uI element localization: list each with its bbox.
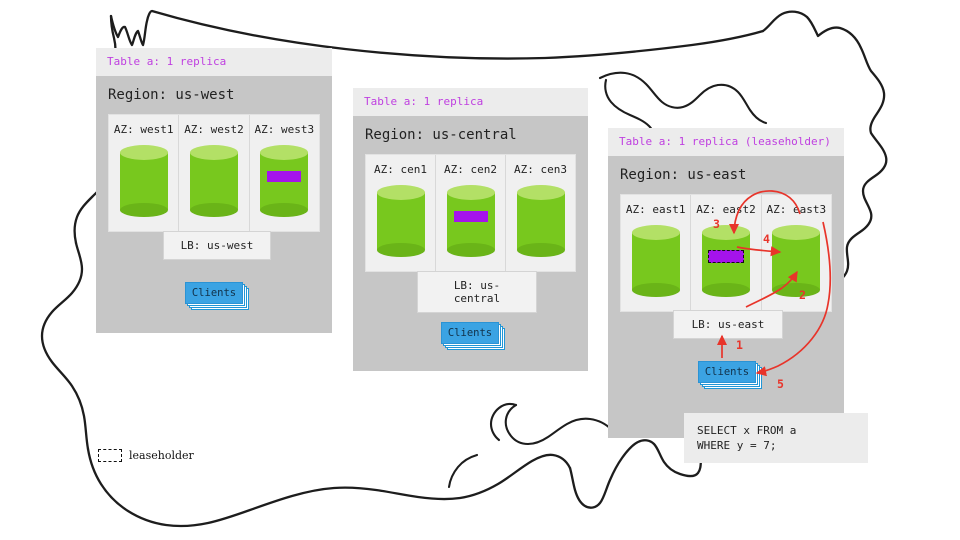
az-cell-west3[interactable]: AZ: west3 (250, 115, 319, 231)
range-chip-cen2 (454, 211, 488, 222)
load-balancer-us-central[interactable]: LB: us-central (417, 271, 537, 313)
sql-query-box: SELECT x FROM a WHERE y = 7; (684, 413, 868, 463)
region-panel-us-east: Table a: 1 replica (leaseholder) Region:… (608, 128, 844, 438)
az-label-cen2: AZ: cen2 (436, 163, 505, 176)
replica-cylinder-west1[interactable] (120, 145, 168, 217)
leaseholder-swatch-icon (98, 449, 122, 462)
leaseholder-chip-east2 (708, 250, 744, 263)
az-label-east3: AZ: east3 (762, 203, 831, 216)
arrow-number-5: 5 (777, 377, 784, 391)
az-label-cen1: AZ: cen1 (366, 163, 435, 176)
load-balancer-us-east[interactable]: LB: us-east (673, 310, 783, 339)
clients-button-us-west[interactable]: Clients (185, 282, 243, 304)
replica-cylinder-cen2[interactable] (447, 185, 495, 257)
load-balancer-us-west[interactable]: LB: us-west (163, 231, 271, 260)
clients-label-us-central[interactable]: Clients (441, 322, 499, 344)
az-row-us-west: AZ: west1 AZ: west2 AZ: west3 (108, 114, 320, 232)
az-cell-west1[interactable]: AZ: west1 (109, 115, 179, 231)
range-chip-west3 (267, 171, 301, 182)
arrow-number-2: 2 (799, 288, 806, 302)
az-cell-east1[interactable]: AZ: east1 (621, 195, 691, 311)
legend-leaseholder: leaseholder (98, 449, 194, 462)
clients-button-us-central[interactable]: Clients (441, 322, 499, 344)
replica-label-us-east: Table a: 1 replica (leaseholder) (608, 128, 844, 156)
region-title-us-west: Region: us-west (96, 76, 332, 114)
az-label-west1: AZ: west1 (109, 123, 178, 136)
clients-button-us-east[interactable]: Clients (698, 361, 756, 383)
diagram-canvas: Table a: 1 replica Region: us-west AZ: w… (0, 0, 960, 540)
az-cell-cen3[interactable]: AZ: cen3 (506, 155, 575, 271)
az-label-west2: AZ: west2 (179, 123, 248, 136)
clients-label-us-east[interactable]: Clients (698, 361, 756, 383)
az-cell-east3[interactable]: AZ: east3 (762, 195, 831, 311)
region-title-us-central: Region: us-central (353, 116, 588, 154)
az-cell-cen1[interactable]: AZ: cen1 (366, 155, 436, 271)
replica-cylinder-east2[interactable] (702, 225, 750, 297)
az-label-east2: AZ: east2 (691, 203, 760, 216)
clients-label-us-west[interactable]: Clients (185, 282, 243, 304)
replica-label-us-west: Table a: 1 replica (96, 48, 332, 76)
az-cell-cen2[interactable]: AZ: cen2 (436, 155, 506, 271)
legend-label: leaseholder (129, 449, 194, 462)
replica-cylinder-cen1[interactable] (377, 185, 425, 257)
replica-label-us-central: Table a: 1 replica (353, 88, 588, 116)
replica-cylinder-east3[interactable] (772, 225, 820, 297)
replica-cylinder-east1[interactable] (632, 225, 680, 297)
arrow-number-4: 4 (763, 232, 770, 246)
replica-cylinder-west3[interactable] (260, 145, 308, 217)
arrow-number-3: 3 (713, 217, 720, 231)
az-label-cen3: AZ: cen3 (506, 163, 575, 176)
az-cell-east2[interactable]: AZ: east2 (691, 195, 761, 311)
replica-cylinder-west2[interactable] (190, 145, 238, 217)
az-label-west3: AZ: west3 (250, 123, 319, 136)
az-cell-west2[interactable]: AZ: west2 (179, 115, 249, 231)
replica-cylinder-cen3[interactable] (517, 185, 565, 257)
region-title-us-east: Region: us-east (608, 156, 844, 194)
az-row-us-central: AZ: cen1 AZ: cen2 AZ: cen3 (365, 154, 576, 272)
arrow-number-1: 1 (736, 338, 743, 352)
az-label-east1: AZ: east1 (621, 203, 690, 216)
